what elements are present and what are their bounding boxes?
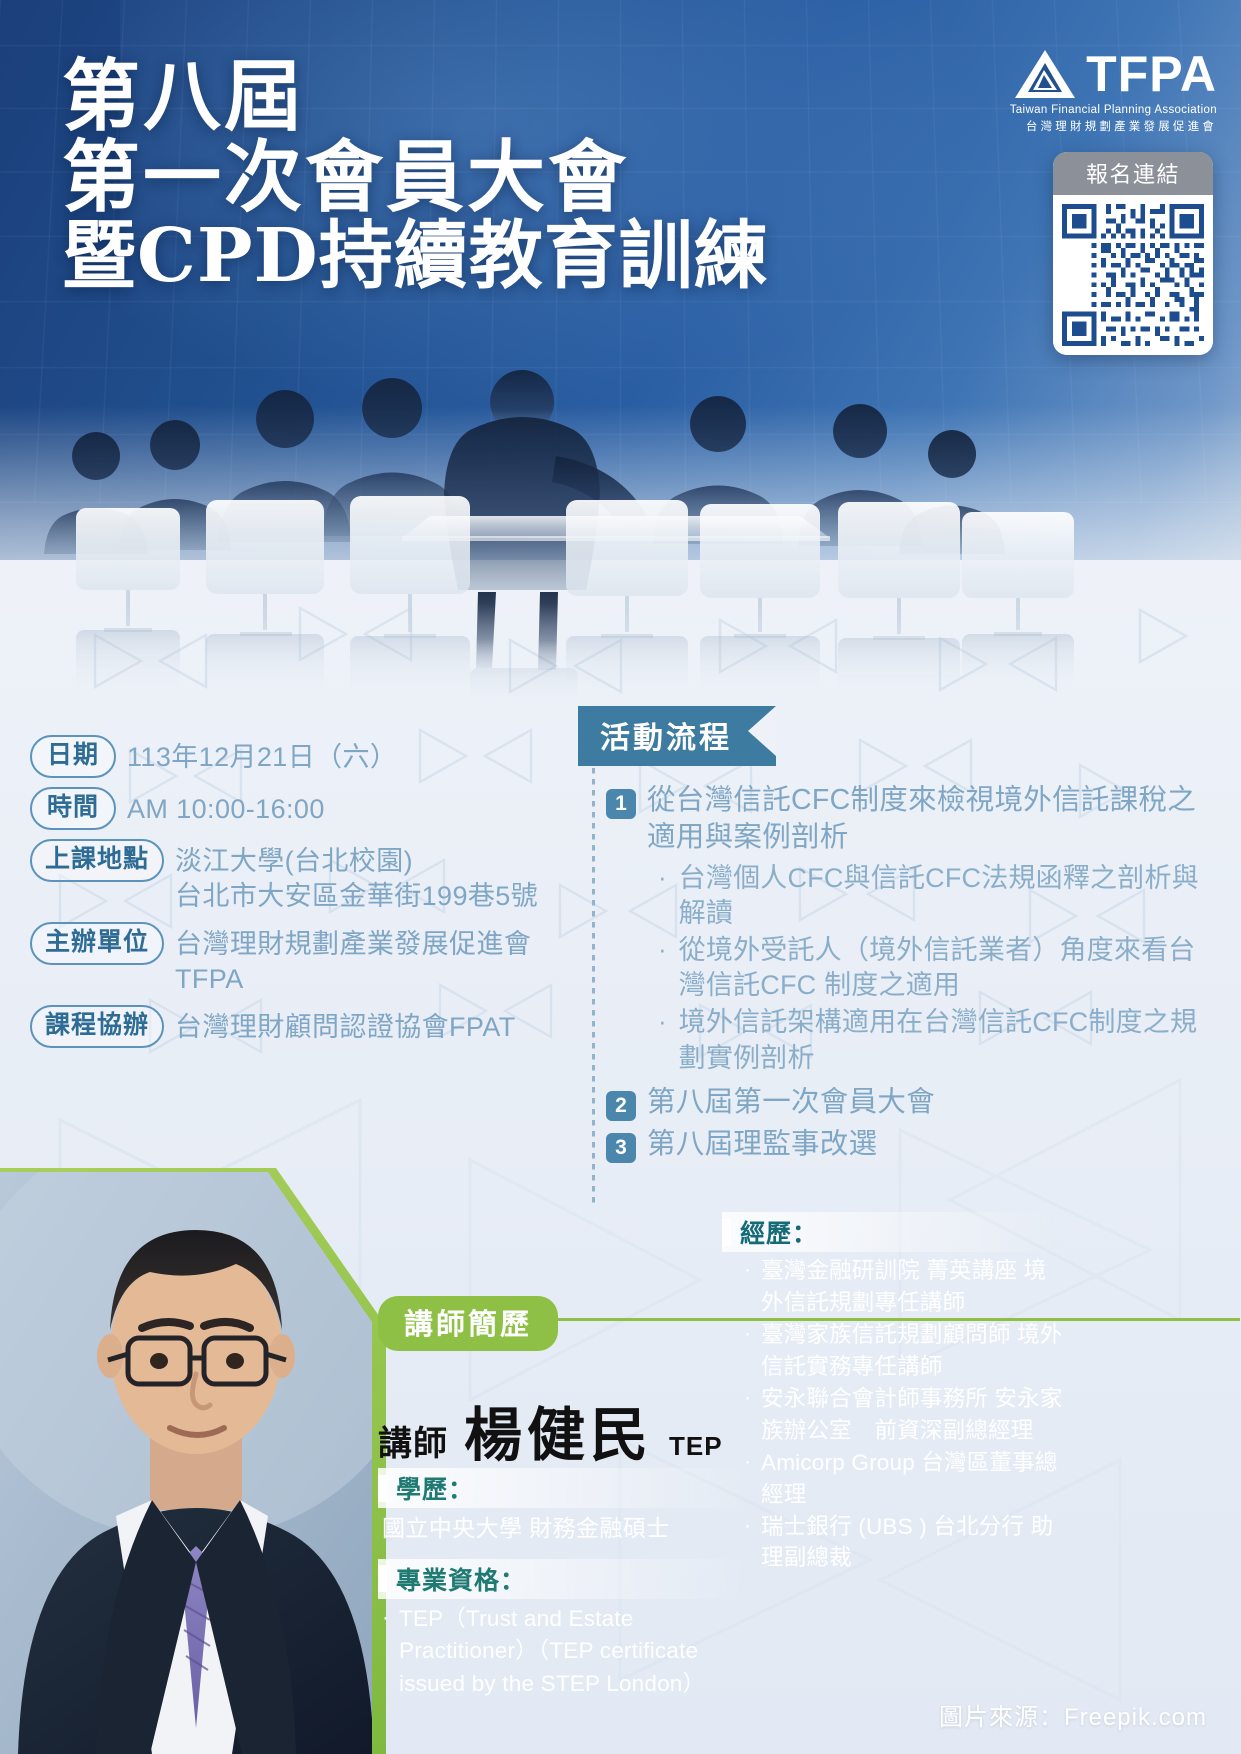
agenda-subitem-text: 台灣個人CFC與信託CFC法規函釋之剖析與解讀 bbox=[667, 861, 1218, 931]
agenda-subitem: · 從境外受託人（境外信託業者）角度來看台灣信託CFC 制度之適用 bbox=[658, 933, 1218, 1003]
bullet-dot-icon: · bbox=[744, 1383, 751, 1413]
bullet-dot-icon: · bbox=[382, 1603, 389, 1633]
agenda-item-text: 從台灣信託CFC制度來檢視境外信託課稅之適用與案例剖析 bbox=[636, 782, 1218, 856]
education-title: 學歷： bbox=[396, 1470, 474, 1506]
headline-line-3: 暨CPD持續教育訓練 bbox=[62, 218, 892, 295]
bullet-dot-icon: · bbox=[658, 933, 667, 966]
heading-bar-icon bbox=[378, 1565, 387, 1592]
agenda-dotted-line bbox=[592, 724, 595, 1204]
agenda-subitem-text: 從境外受託人（境外信託業者）角度來看台灣信託CFC 制度之適用 bbox=[667, 933, 1218, 1003]
info-row-coorganizer: 課程協辦 台灣理財顧問認證協會FPAT bbox=[30, 1005, 590, 1048]
qr-code-icon bbox=[1062, 204, 1204, 346]
experience-bullet-text: 臺灣金融研訓院 菁英講座 境外信託規劃專任講師 bbox=[751, 1255, 1067, 1319]
info-row-organizer: 主辦單位 台灣理財規劃產業發展促進會 TFPA bbox=[30, 922, 590, 996]
agenda-item-number: 3 bbox=[606, 1133, 636, 1163]
info-value-organizer: 台灣理財規劃產業發展促進會 TFPA bbox=[164, 922, 531, 996]
qualification-title: 專業資格： bbox=[396, 1561, 526, 1597]
tfpa-triangle-icon bbox=[1013, 48, 1077, 100]
meeting-silhouette-illustration bbox=[0, 330, 1241, 710]
qualification-bullet-text: TEP（Trust and Estate Practitioner）（TEP c… bbox=[389, 1603, 758, 1701]
agenda-subitem-text: 境外信託架構適用在台灣信託CFC制度之規劃實例剖析 bbox=[667, 1005, 1218, 1075]
organizer-line-1: 台灣理財規劃產業發展促進會 bbox=[175, 929, 531, 959]
bullet-dot-icon: · bbox=[658, 1005, 667, 1038]
info-label-organizer: 主辦單位 bbox=[30, 922, 164, 965]
experience-bullet: · Amicorp Group 台灣區董事總經理 bbox=[744, 1447, 1067, 1511]
bullet-dot-icon: · bbox=[744, 1511, 751, 1541]
speaker-name: 楊健民 bbox=[464, 1388, 653, 1472]
education-heading: 學歷： bbox=[378, 1468, 758, 1508]
experience-bullet-text: 瑞士銀行 (UBS ) 台北分行 助理副總裁 bbox=[751, 1511, 1067, 1575]
info-label-venue: 上課地點 bbox=[30, 839, 164, 882]
experience-bullet-text: 安永聯合會計師事務所 安永家族辦公室 前資深副總經理 bbox=[751, 1383, 1067, 1447]
experience-bullets: · 臺灣金融研訓院 菁英講座 境外信託規劃專任講師 · 臺灣家族信託規劃顧問師 … bbox=[744, 1255, 1067, 1574]
agenda-item-text: 第八屆理監事改選 bbox=[636, 1126, 877, 1163]
heading-bar-icon bbox=[722, 1219, 731, 1246]
experience-bullet: · 瑞士銀行 (UBS ) 台北分行 助理副總裁 bbox=[744, 1511, 1067, 1575]
agenda-item: 2 第八屆第一次會員大會 bbox=[606, 1084, 1218, 1121]
logo-subtitle-en: Taiwan Financial Planning Association bbox=[1010, 104, 1217, 116]
experience-bullet-text: Amicorp Group 台灣區董事總經理 bbox=[751, 1447, 1067, 1511]
speaker-name-row: 講師 楊健民 TEP bbox=[378, 1388, 723, 1472]
bullet-dot-icon: · bbox=[744, 1255, 751, 1285]
experience-title: 經歷： bbox=[740, 1214, 818, 1250]
info-value-date: 113年12月21日（六） bbox=[116, 735, 397, 775]
speaker-credentials-column: 學歷： 國立中央大學 財務金融碩士 專業資格： · TEP（Trust and … bbox=[378, 1468, 758, 1701]
agenda-block: 活動流程 1 從台灣信託CFC制度來檢視境外信託課稅之適用與案例剖析 · 台灣個… bbox=[578, 706, 1218, 1168]
experience-bullet: · 安永聯合會計師事務所 安永家族辦公室 前資深副總經理 bbox=[744, 1383, 1067, 1447]
logo-wordmark: TFPA bbox=[1086, 49, 1217, 99]
poster-headline: 第八屆 第一次會員大會 暨CPD持續教育訓練 bbox=[62, 56, 892, 295]
info-value-coorganizer: 台灣理財顧問認證協會FPAT bbox=[164, 1005, 516, 1045]
experience-bullet-text: 臺灣家族信託規劃顧問師 境外信託實務專任講師 bbox=[751, 1319, 1067, 1383]
info-label-coorganizer: 課程協辦 bbox=[30, 1005, 164, 1048]
agenda-subitem-list: · 台灣個人CFC與信託CFC法規函釋之剖析與解讀 · 從境外受託人（境外信託業… bbox=[658, 861, 1218, 1076]
organizer-line-2: TFPA bbox=[175, 962, 531, 997]
info-label-time: 時間 bbox=[30, 787, 116, 830]
headline-line-2: 第一次會員大會 bbox=[62, 137, 892, 218]
experience-bullet: · 臺灣家族信託規劃顧問師 境外信託實務專任講師 bbox=[744, 1319, 1067, 1383]
logo-row: TFPA bbox=[1013, 48, 1217, 100]
info-row-time: 時間 AM 10:00-16:00 bbox=[30, 787, 590, 830]
bullet-dot-icon: · bbox=[744, 1319, 751, 1349]
headline-line-1: 第八屆 bbox=[62, 56, 892, 137]
heading-bar-icon bbox=[378, 1475, 387, 1502]
info-value-venue: 淡江大學(台北校園) 台北市大安區金華街199巷5號 bbox=[164, 839, 538, 913]
info-label-date: 日期 bbox=[30, 735, 116, 778]
speaker-photo-clip bbox=[0, 1150, 388, 1754]
speaker-portrait-illustration bbox=[0, 1150, 388, 1754]
speaker-photo bbox=[0, 1150, 388, 1754]
logo-subtitle-zh: 台灣理財規劃產業發展促進會 bbox=[1026, 118, 1217, 134]
agenda-item: 1 從台灣信託CFC制度來檢視境外信託課稅之適用與案例剖析 bbox=[606, 782, 1218, 856]
agenda-heading: 活動流程 bbox=[578, 706, 776, 766]
agenda-item: 3 第八屆理監事改選 bbox=[606, 1126, 1218, 1163]
qualification-heading: 專業資格： bbox=[378, 1559, 758, 1599]
education-line: 國立中央大學 財務金融碩士 bbox=[382, 1512, 758, 1545]
experience-bullet: · 臺灣金融研訓院 菁英講座 境外信託規劃專任講師 bbox=[744, 1255, 1067, 1319]
qr-card-title: 報名連結 bbox=[1053, 152, 1213, 195]
agenda-item-text: 第八屆第一次會員大會 bbox=[636, 1084, 935, 1121]
agenda-item-number: 2 bbox=[606, 1091, 636, 1121]
speaker-role-label: 講師 bbox=[378, 1416, 448, 1465]
image-credit: 圖片來源：Freepik.com bbox=[939, 1697, 1207, 1732]
tfpa-logo: TFPA Taiwan Financial Planning Associati… bbox=[1010, 48, 1217, 134]
venue-line-2: 台北市大安區金華街199巷5號 bbox=[175, 879, 538, 914]
bullet-dot-icon: · bbox=[658, 861, 667, 894]
venue-line-1: 淡江大學(台北校園) bbox=[175, 846, 413, 876]
qualification-bullets: · TEP（Trust and Estate Practitioner）（TEP… bbox=[382, 1603, 758, 1701]
info-row-date: 日期 113年12月21日（六） bbox=[30, 735, 590, 778]
bullet-dot-icon: · bbox=[744, 1447, 751, 1477]
info-row-venue: 上課地點 淡江大學(台北校園) 台北市大安區金華街199巷5號 bbox=[30, 839, 590, 913]
poster-root: 第八屆 第一次會員大會 暨CPD持續教育訓練 TFPA Taiwan Finan… bbox=[0, 0, 1241, 1754]
speaker-designation: TEP bbox=[669, 1431, 723, 1462]
registration-qr-card[interactable]: 報名連結 bbox=[1053, 152, 1213, 355]
agenda-subitem: · 台灣個人CFC與信託CFC法規函釋之剖析與解讀 bbox=[658, 861, 1218, 931]
speaker-section-heading: 講師簡歷 bbox=[378, 1296, 558, 1351]
agenda-item-number: 1 bbox=[606, 789, 636, 819]
info-value-time: AM 10:00-16:00 bbox=[116, 787, 325, 827]
speaker-experience-column: 經歷： · 臺灣金融研訓院 菁英講座 境外信託規劃專任講師 · 臺灣家族信託規劃… bbox=[722, 1212, 1067, 1574]
qualification-bullet: · TEP（Trust and Estate Practitioner）（TEP… bbox=[382, 1603, 758, 1701]
event-info-block: 日期 113年12月21日（六） 時間 AM 10:00-16:00 上課地點 … bbox=[30, 735, 590, 1057]
experience-heading: 經歷： bbox=[722, 1212, 1067, 1252]
qr-code-box bbox=[1053, 195, 1213, 355]
agenda-list: 1 從台灣信託CFC制度來檢視境外信託課稅之適用與案例剖析 · 台灣個人CFC與… bbox=[606, 782, 1218, 1163]
agenda-subitem: · 境外信託架構適用在台灣信託CFC制度之規劃實例剖析 bbox=[658, 1005, 1218, 1075]
